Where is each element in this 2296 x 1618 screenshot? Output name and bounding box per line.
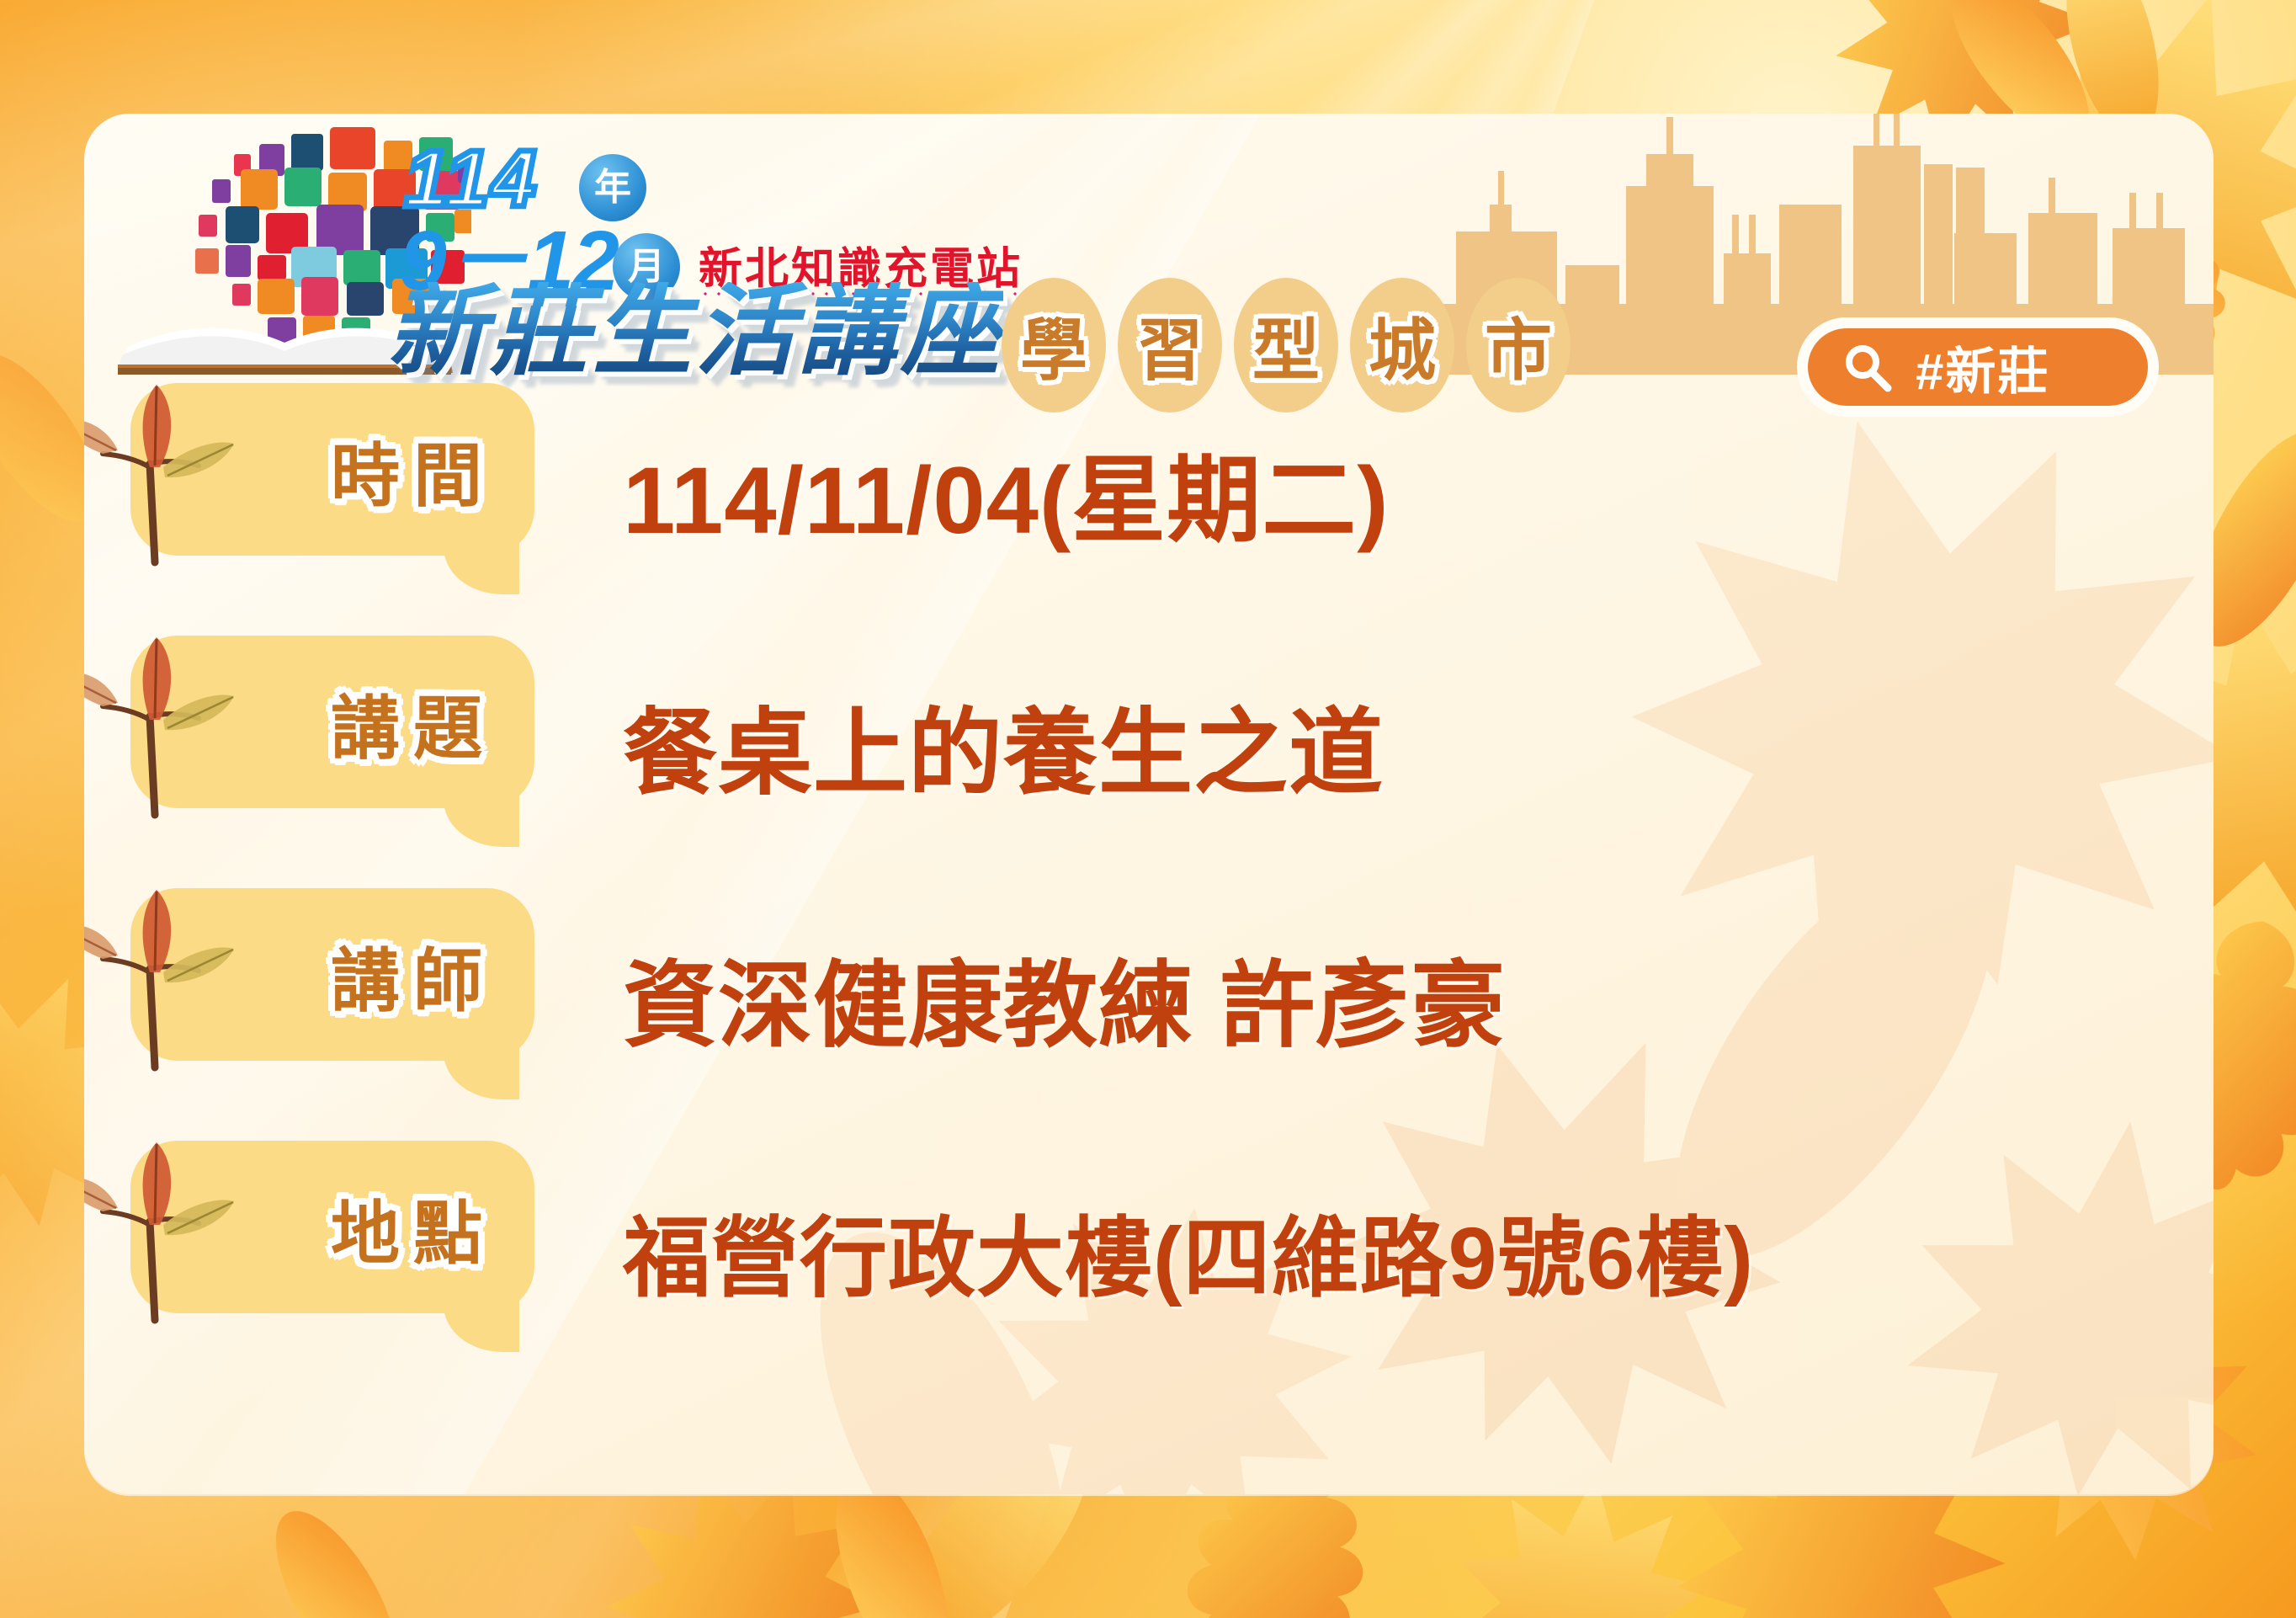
row-value-topic: 餐桌上的養生之道 [623,677,1384,813]
row-label-venue: 地點 [331,1177,496,1277]
row-label-speaker: 講師 [331,924,496,1025]
main-card: 114 年 9－12 月 新北知識充電站 新莊生活講座 學 習 型 城 市 [84,114,2214,1494]
row-value-speaker: 資深健康教練 許彥豪 [623,929,1506,1066]
info-row-speaker: 講師 資深健康教練 許彥豪 [84,871,2214,1124]
year-number: 114 [404,139,538,220]
year-unit-badge: 年 [579,154,646,221]
autumn-leaf-sprig-icon-1 [84,625,252,819]
autumn-leaf-sprig-icon-2 [84,878,252,1072]
autumn-leaf-sprig-icon-0 [84,373,252,567]
row-value-time: 114/11/04(星期二) [623,424,1390,561]
info-row-topic: 講題 餐桌上的養生之道 [84,619,2214,871]
row-value-venue: 福營行政大樓(四維路9號6樓) [623,1187,1754,1314]
autumn-leaf-sprig-icon-3 [84,1131,252,1324]
poster-header: 114 年 9－12 月 新北知識充電站 新莊生活講座 學 習 型 城 市 [84,114,2214,366]
poster-root: 114 年 9－12 月 新北知識充電站 新莊生活講座 學 習 型 城 市 [0,0,2296,1618]
info-row-time: 時間 114/11/04(星期二) [84,366,2214,619]
info-row-venue: 地點 福營行政大樓(四維路9號6樓) [84,1124,2214,1376]
title-group: 114 年 9－12 月 新北知識充電站 新莊生活講座 [396,139,1035,358]
info-rows: 時間 114/11/04(星期二) 講題 [84,366,2214,1376]
row-label-time: 時間 [331,419,496,519]
row-label-topic: 講題 [331,672,496,772]
